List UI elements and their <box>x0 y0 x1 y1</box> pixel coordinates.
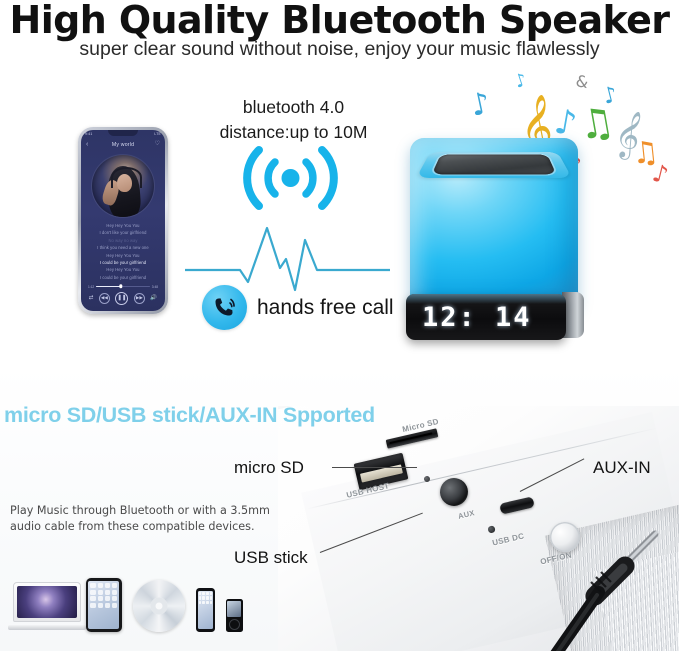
bluetooth-version: bluetooth 4.0 <box>186 95 401 120</box>
lyric-line: I could be your girlfriend <box>81 259 165 266</box>
lyric-line: No way no way <box>81 237 165 244</box>
status-network: LTE <box>154 132 161 136</box>
lyric-line: Hey Hey You You <box>81 266 165 273</box>
device-tablet-icon <box>86 578 122 632</box>
device-cd-icon <box>133 580 185 632</box>
page-title: High Quality Bluetooth Speaker <box>0 0 679 42</box>
hands-free-call-label: hands free call <box>257 296 394 320</box>
ports-section: Micro SD USB HOST AUX USB DC OFF/ON <box>0 366 679 651</box>
phone-status-bar: 9:41 LTE <box>81 131 165 137</box>
phone-header: My world <box>81 139 165 151</box>
status-time: 9:41 <box>85 132 92 136</box>
seek-track[interactable] <box>96 286 150 287</box>
elapsed-time: 1:12 <box>88 285 94 289</box>
lyric-line: I think you need a new one <box>81 244 165 251</box>
callout-aux-in: AUX-IN <box>593 458 651 478</box>
speaker-top-panel <box>416 152 572 178</box>
compatibility-blurb: Play Music through Bluetooth or with a 3… <box>10 503 275 534</box>
product-infographic: High Quality Bluetooth Speaker super cle… <box>0 0 679 651</box>
aux-cable <box>533 526 679 651</box>
compatible-devices-row <box>8 564 243 632</box>
callout-usb-stick: USB stick <box>234 548 308 568</box>
callout-micro-sd: micro SD <box>234 458 304 478</box>
device-mp3-player-icon <box>226 599 243 632</box>
total-time: 3:48 <box>152 285 158 289</box>
svg-text:&: & <box>574 71 590 92</box>
phone-mockup: 9:41 LTE ‹ ♡ My world Hey Hey You You I … <box>78 127 168 314</box>
bluetooth-speaker: 12: 14 <box>404 112 586 340</box>
progress-bar[interactable]: 1:12 3:48 <box>88 284 158 289</box>
next-icon[interactable]: ▶▶ <box>134 293 145 304</box>
lyric-line: Hey Hey You You <box>81 252 165 259</box>
now-playing-title: My world <box>112 142 134 148</box>
album-art <box>92 155 154 217</box>
clock-display: 12: 14 <box>422 304 532 332</box>
headphone-band <box>111 167 142 188</box>
previous-icon[interactable]: ◀◀ <box>99 293 110 304</box>
speaker-grill <box>432 154 557 174</box>
wireless-signal-icon <box>233 140 348 212</box>
lyric-line: Hey Hey You You <box>81 222 165 229</box>
ports-heading: micro SD/USB stick/AUX-IN Spported <box>4 403 375 428</box>
speaker-clock-base: 12: 14 <box>406 294 566 340</box>
device-laptop-icon <box>8 582 75 632</box>
lyric-line: I could be your girlfriend <box>81 274 165 281</box>
hands-free-call-group: hands free call <box>202 285 394 330</box>
bluetooth-spec: bluetooth 4.0 distance:up to 10M <box>186 95 401 145</box>
lyric-line: I don't like your girlfriend <box>81 229 165 236</box>
volume-icon[interactable]: 🔊 <box>150 295 157 301</box>
player-controls: ⇄ ◀◀ ❚❚ ▶▶ 🔊 <box>81 291 165 305</box>
lyrics-list: Hey Hey You You I don't like your girlfr… <box>81 222 165 281</box>
shuffle-icon[interactable]: ⇄ <box>89 295 94 301</box>
play-pause-icon[interactable]: ❚❚ <box>115 292 128 305</box>
svg-text:♪: ♪ <box>512 69 529 93</box>
leader-line-micro-sd <box>332 467 417 468</box>
speaker-port-panel-photo: Micro SD USB HOST AUX USB DC OFF/ON <box>278 406 679 651</box>
phone-call-icon <box>202 285 247 330</box>
phone-screen: 9:41 LTE ‹ ♡ My world Hey Hey You You I … <box>81 130 165 311</box>
device-smartphone-icon <box>196 588 215 632</box>
